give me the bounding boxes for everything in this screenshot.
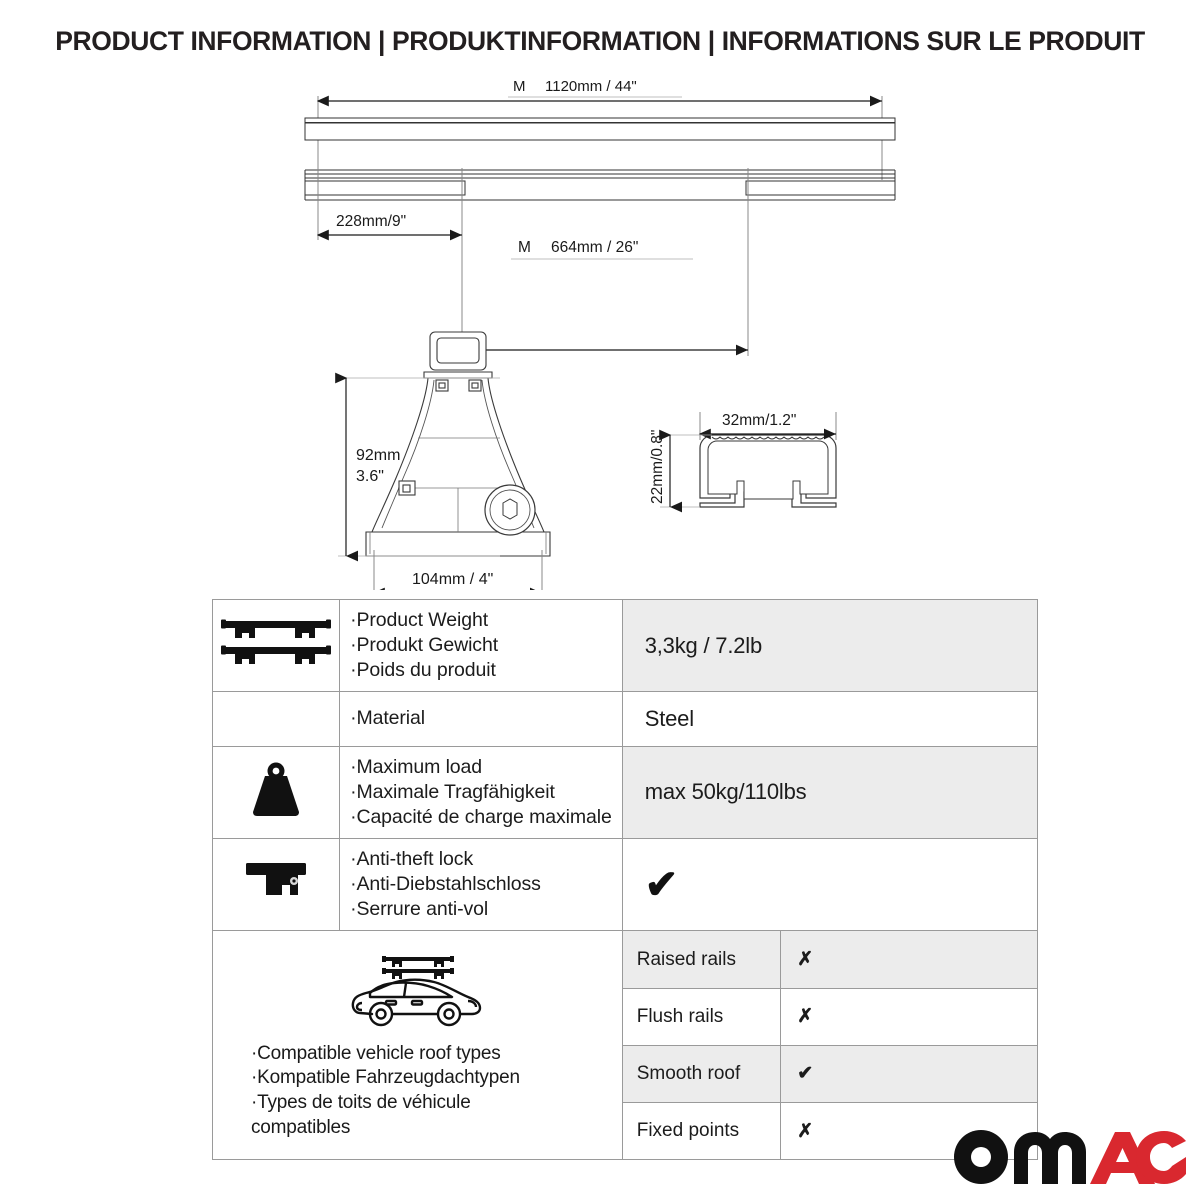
roof-types-info-cell: ·Compatible vehicle roof types ·Kompatib… bbox=[213, 931, 623, 1160]
omac-logo-mark bbox=[950, 1124, 1186, 1186]
roof-type-name: Fixed points bbox=[623, 1102, 781, 1159]
row-label-cell: ·Material bbox=[340, 692, 623, 746]
product-weight-value: 3,3kg / 7.2lb bbox=[623, 633, 1037, 659]
label-line: ·Serrure anti-vol bbox=[350, 897, 612, 922]
row-icon-cell bbox=[213, 838, 340, 930]
dim-spread-prefix: M bbox=[518, 239, 531, 256]
label-line: ·Material bbox=[350, 706, 612, 731]
dim-spread-value: 664mm / 26" bbox=[551, 239, 638, 256]
dim-bar-length-prefix: M bbox=[513, 78, 526, 95]
material-value: Steel bbox=[623, 706, 1037, 732]
roof-types-label: ·Compatible vehicle roof types ·Kompatib… bbox=[213, 1042, 622, 1141]
table-row: ·Anti-theft lock ·Anti-Diebstahlschloss … bbox=[213, 838, 1038, 930]
roof-type-row: Flush rails ✗ bbox=[623, 988, 1037, 1045]
roof-type-support: ✗ bbox=[781, 931, 1037, 988]
foot-front-view bbox=[366, 332, 550, 556]
table-row-roof-types: ·Compatible vehicle roof types ·Kompatib… bbox=[213, 931, 1038, 1160]
row-value-cell: ✔ bbox=[622, 838, 1037, 930]
label-line: ·Product Weight bbox=[350, 608, 612, 633]
label-line: compatibles bbox=[251, 1116, 622, 1141]
bar-cross-section bbox=[700, 435, 836, 507]
roof-type-support: ✗ bbox=[781, 988, 1037, 1045]
label-line: ·Maximum load bbox=[350, 755, 612, 780]
label-line: ·Poids du produit bbox=[350, 658, 612, 683]
label-line: ·Kompatible Fahrzeugdachtypen bbox=[251, 1066, 622, 1091]
bar-top-view bbox=[305, 170, 895, 200]
omac-logo bbox=[950, 1124, 1186, 1186]
label-line: ·Produkt Gewicht bbox=[350, 633, 612, 658]
label-line: ·Maximale Tragfähigkeit bbox=[350, 780, 612, 805]
roof-type-row: Raised rails ✗ bbox=[623, 931, 1037, 988]
label-line: ·Anti-theft lock bbox=[350, 847, 612, 872]
table-row: ·Maximum load ·Maximale Tragfähigkeit ·C… bbox=[213, 746, 1038, 838]
row-label-cell: ·Anti-theft lock ·Anti-Diebstahlschloss … bbox=[340, 838, 623, 930]
row-icon-cell bbox=[213, 746, 340, 838]
row-label-cell: ·Product Weight ·Produkt Gewicht ·Poids … bbox=[340, 600, 623, 692]
drawing-svg: M 1120mm / 44" 228mm/9" M 664mm / 26" bbox=[0, 60, 1200, 590]
row-value-cell: max 50kg/110lbs bbox=[622, 746, 1037, 838]
label-line: ·Capacité de charge maximale bbox=[350, 805, 612, 830]
row-value-cell: Steel bbox=[622, 692, 1037, 746]
table-row: ·Product Weight ·Produkt Gewicht ·Poids … bbox=[213, 600, 1038, 692]
dim-foot-width-value: 104mm / 4" bbox=[412, 571, 493, 588]
roof-type-name: Flush rails bbox=[623, 988, 781, 1045]
row-label-cell: ·Maximum load ·Maximale Tragfähigkeit ·C… bbox=[340, 746, 623, 838]
crossbars-icon bbox=[221, 617, 331, 669]
roof-type-name: Raised rails bbox=[623, 931, 781, 988]
row-value-cell: 3,3kg / 7.2lb bbox=[622, 600, 1037, 692]
roof-type-name: Smooth roof bbox=[623, 1045, 781, 1102]
technical-drawing: M 1120mm / 44" 228mm/9" M 664mm / 26" bbox=[0, 60, 1200, 590]
lock-icon bbox=[244, 861, 308, 903]
page-title: PRODUCT INFORMATION | PRODUKTINFORMATION… bbox=[0, 26, 1200, 57]
product-spec-table: ·Product Weight ·Produkt Gewicht ·Poids … bbox=[212, 599, 1038, 1160]
car-with-roofbars-icon bbox=[342, 951, 492, 1037]
dim-profile-width-value: 32mm/1.2" bbox=[722, 412, 796, 429]
table-row: ·Material Steel bbox=[213, 692, 1038, 746]
weight-icon bbox=[245, 762, 307, 818]
row-icon-cell bbox=[213, 600, 340, 692]
label-line: ·Anti-Diebstahlschloss bbox=[350, 872, 612, 897]
roof-type-row: Smooth roof ✔ bbox=[623, 1045, 1037, 1102]
label-line: ·Compatible vehicle roof types bbox=[251, 1042, 622, 1067]
label-line: ·Types de toits de véhicule bbox=[251, 1091, 622, 1116]
row-icon-cell bbox=[213, 692, 340, 746]
anti-theft-lock-check: ✔ bbox=[623, 865, 1037, 905]
dim-bar-length-value: 1120mm / 44" bbox=[545, 78, 637, 95]
bar-side-view bbox=[305, 118, 895, 140]
dim-profile-height-value: 22mm/0.8" bbox=[649, 430, 666, 504]
dim-foot-height-mm: 92mm bbox=[356, 447, 400, 464]
roof-type-support: ✔ bbox=[781, 1045, 1037, 1102]
dim-foot-height-in: 3.6" bbox=[356, 468, 384, 485]
max-load-value: max 50kg/110lbs bbox=[623, 779, 1037, 805]
dim-end-offset-value: 228mm/9" bbox=[336, 213, 406, 230]
